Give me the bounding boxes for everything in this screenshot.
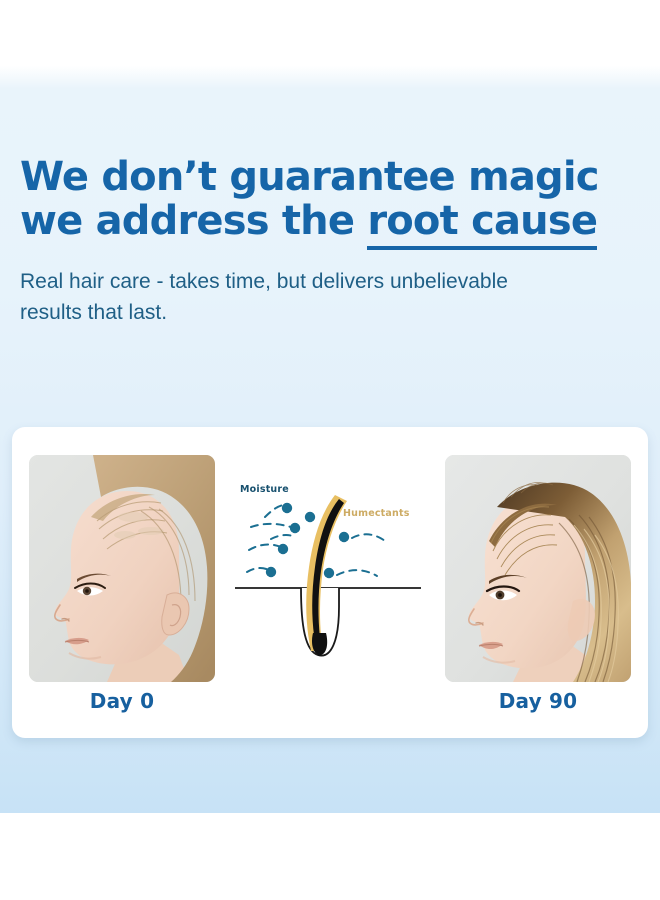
- promo-page: We don’t guarantee magic we address the …: [0, 0, 660, 900]
- headline-block: We don’t guarantee magic we address the …: [20, 155, 648, 328]
- before-photo: [29, 455, 215, 682]
- page-title: We don’t guarantee magic we address the …: [20, 155, 648, 243]
- headline-line-2-prefix: we address the: [20, 198, 367, 244]
- after-photo: [445, 455, 631, 682]
- background-bottom-band: [0, 813, 660, 900]
- moisture-label-text: Moisture: [240, 484, 289, 495]
- follicle-diagram: Moisture Humectants: [225, 455, 435, 682]
- headline-line-1: We don’t guarantee magic: [20, 154, 599, 200]
- before-after-card: Day 0 Moisture Humectants: [12, 427, 648, 738]
- background-top-band: [0, 0, 660, 72]
- headline-line-2: we address the root cause: [20, 199, 648, 243]
- headline-emphasis: root cause: [367, 198, 597, 250]
- before-caption: Day 0: [29, 689, 215, 713]
- after-caption: Day 90: [445, 689, 631, 713]
- subtitle: Real hair care - takes time, but deliver…: [20, 243, 540, 328]
- humectants-label-text: Humectants: [343, 508, 410, 519]
